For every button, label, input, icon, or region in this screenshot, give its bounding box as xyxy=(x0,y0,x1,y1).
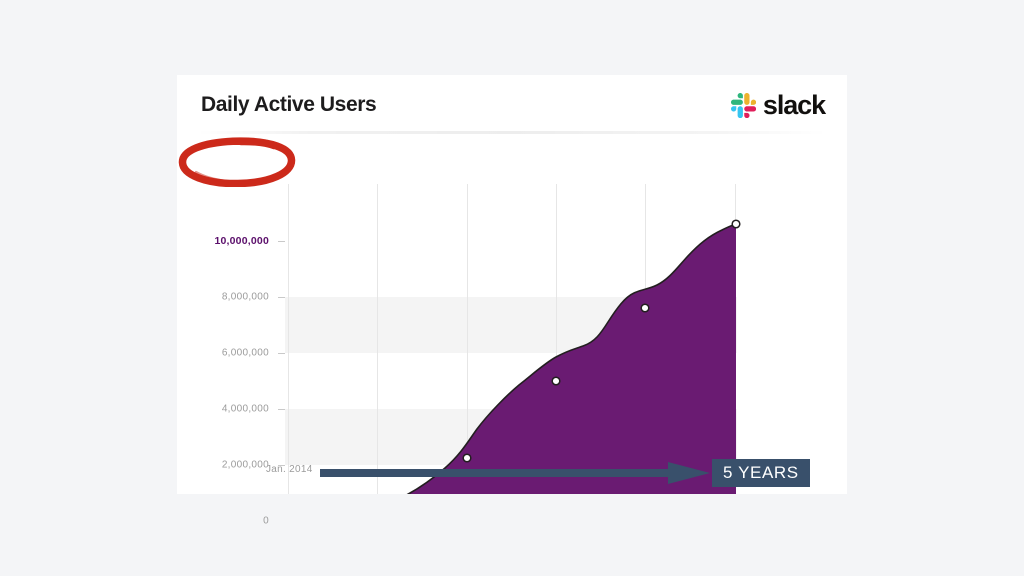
slack-hash-icon xyxy=(731,93,756,118)
chart-card: Daily Active Users slack xyxy=(177,75,847,494)
duration-arrow-icon xyxy=(320,460,710,486)
slack-logo: slack xyxy=(731,92,825,119)
status-badge-5-years: 5 YEARS xyxy=(712,459,810,487)
y-axis-label-4m: 4,000,000 xyxy=(222,404,269,415)
data-point xyxy=(641,304,649,312)
slack-wordmark: slack xyxy=(763,92,825,119)
data-point xyxy=(732,220,740,228)
data-point xyxy=(552,377,560,385)
page-title: Daily Active Users xyxy=(201,93,376,117)
y-axis-label-10m: 10,000,000 xyxy=(214,235,269,247)
card-header: Daily Active Users slack xyxy=(177,75,847,132)
area-chart xyxy=(177,132,847,494)
y-axis-label-6m: 6,000,000 xyxy=(222,348,269,359)
plot-area: 10,000,000 8,000,000 6,000,000 4,000,000… xyxy=(177,132,847,494)
y-axis-label-2m: 2,000,000 xyxy=(222,460,269,471)
chart-y-ticks xyxy=(278,242,285,495)
x-axis-start-label: Jan. 2014 xyxy=(266,464,313,475)
slide-canvas: Daily Active Users slack xyxy=(0,0,1024,576)
y-axis-label-8m: 8,000,000 xyxy=(222,292,269,303)
y-axis-label-0: 0 xyxy=(263,516,269,527)
